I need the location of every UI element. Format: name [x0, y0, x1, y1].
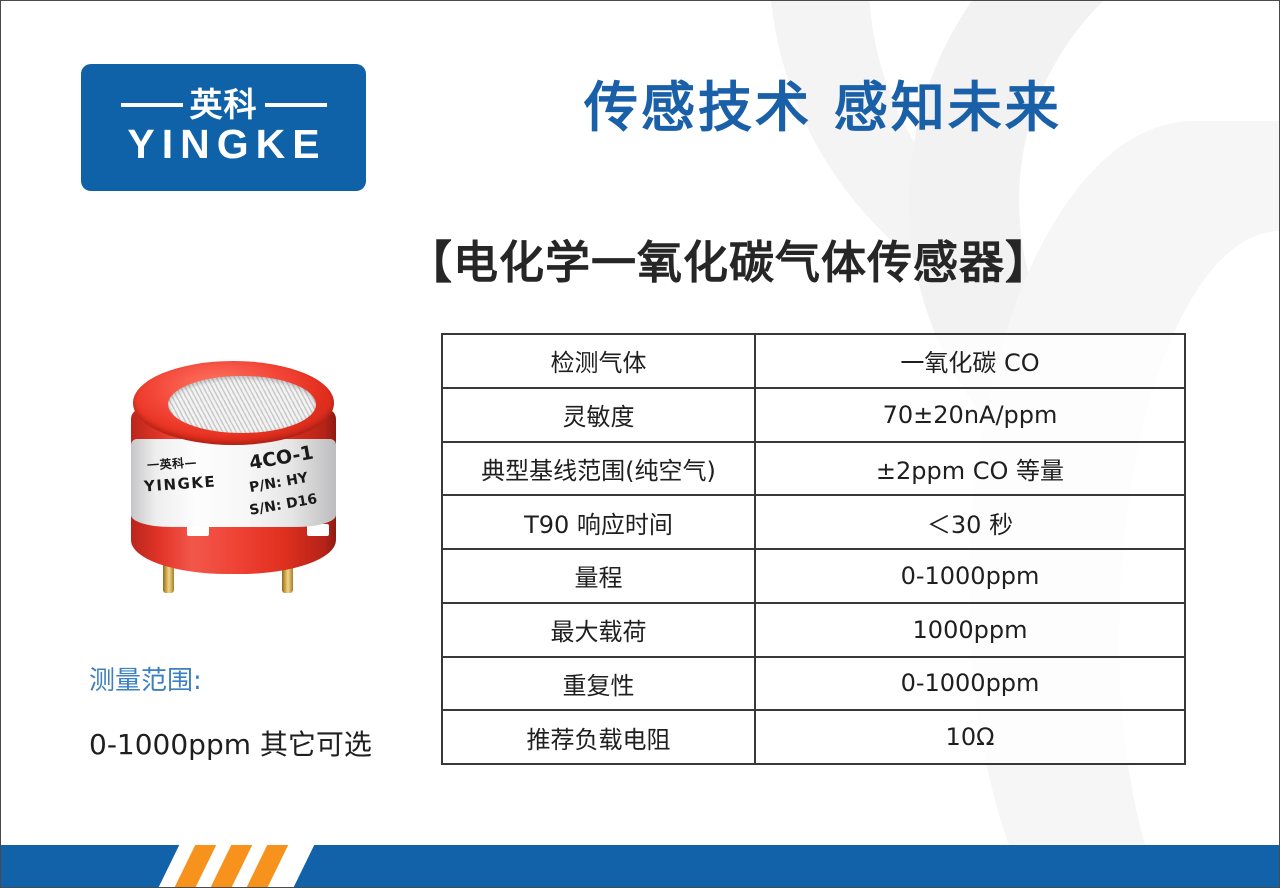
specification-table: 检测气体 一氧化碳 CO 灵敏度 70±20nA/ppm 典型基线范围(纯空气)… [441, 333, 1186, 765]
spec-value: 0-1000ppm [755, 549, 1185, 603]
sensor-label-chinese-name: 一英科— [146, 453, 197, 473]
spec-name: 最大载荷 [442, 603, 755, 657]
sensor-label-part-number: P/N: HY [248, 470, 309, 496]
sensor-top-rim [133, 361, 334, 445]
table-row: 灵敏度 70±20nA/ppm [442, 388, 1185, 442]
sensor-label-serial-number: S/N: D16 [248, 491, 318, 519]
spec-name: 推荐负载电阻 [442, 710, 755, 764]
table-row: 典型基线范围(纯空气) ±2ppm CO 等量 [442, 442, 1185, 496]
table-row: T90 响应时间 ＜30 秒 [442, 495, 1185, 549]
spec-name: 检测气体 [442, 334, 755, 388]
footer-stripe-1-icon [175, 845, 216, 887]
table-row: 检测气体 一氧化碳 CO [442, 334, 1185, 388]
sensor-membrane-mesh-icon [168, 376, 316, 433]
footer-stripe-2-icon [211, 845, 252, 887]
logo-chinese-name: 英科 [190, 88, 258, 121]
spec-value: 70±20nA/ppm [755, 388, 1185, 442]
spec-value: 一氧化碳 CO [755, 334, 1185, 388]
spec-name: T90 响应时间 [442, 495, 755, 549]
slide-canvas: 英科 YINGKE 传感技术 感知未来 【电化学一氧化碳气体传感器】 一英科— … [0, 0, 1280, 888]
logo-top-row: 英科 [121, 88, 327, 121]
product-photo-sensor: 一英科— YINGKE 4CO-1 P/N: HY S/N: D16 [125, 357, 345, 607]
specification-table-body: 检测气体 一氧化碳 CO 灵敏度 70±20nA/ppm 典型基线范围(纯空气)… [442, 334, 1185, 764]
footer-stripe-decoration-icon [159, 845, 314, 887]
sensor-label-band: 一英科— YINGKE 4CO-1 P/N: HY S/N: D16 [131, 439, 336, 527]
table-row: 最大载荷 1000ppm [442, 603, 1185, 657]
spec-value: 10Ω [755, 710, 1185, 764]
table-row: 重复性 0-1000ppm [442, 657, 1185, 711]
footer-bar [1, 845, 1280, 887]
brand-logo: 英科 YINGKE [81, 64, 366, 191]
spec-value: ±2ppm CO 等量 [755, 442, 1185, 496]
spec-name: 量程 [442, 549, 755, 603]
spec-name: 典型基线范围(纯空气) [442, 442, 755, 496]
logo-latin-name: YINGKE [120, 123, 326, 166]
table-row: 量程 0-1000ppm [442, 549, 1185, 603]
measurement-range-label: 测量范围: [89, 660, 202, 697]
logo-rule-right-icon [265, 103, 327, 107]
spec-name: 灵敏度 [442, 388, 755, 442]
measurement-range-value: 0-1000ppm 其它可选 [89, 723, 372, 763]
spec-name: 重复性 [442, 657, 755, 711]
spec-value: 1000ppm [755, 603, 1185, 657]
page-title: 【电化学一氧化碳气体传感器】 [407, 226, 1051, 291]
brand-tagline: 传感技术 感知未来 [584, 63, 1062, 142]
spec-value: 0-1000ppm [755, 657, 1185, 711]
spec-value: ＜30 秒 [755, 495, 1185, 549]
footer-stripe-3-icon [247, 845, 288, 887]
logo-rule-left-icon [121, 103, 183, 107]
sensor-label-latin-name: YINGKE [143, 473, 216, 496]
table-row: 推荐负载电阻 10Ω [442, 710, 1185, 764]
